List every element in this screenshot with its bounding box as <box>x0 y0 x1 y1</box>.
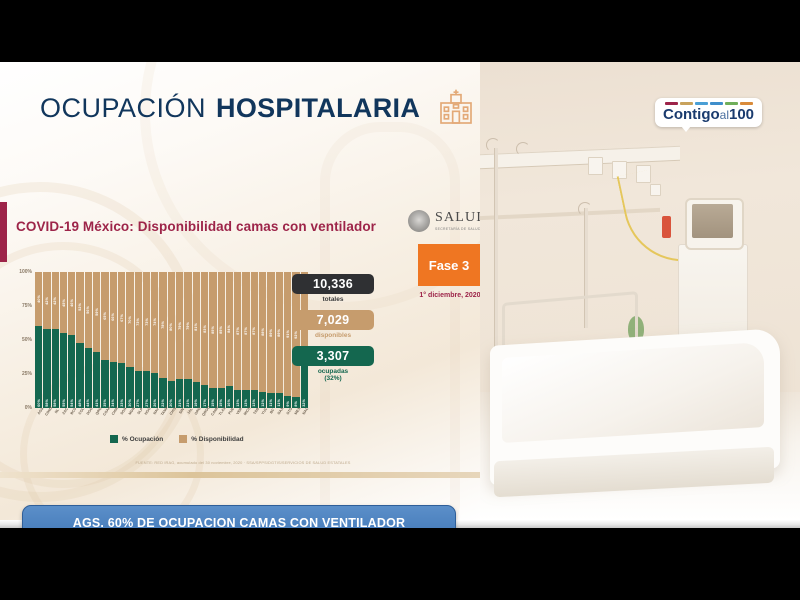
chart-bar: 74%26% <box>151 272 158 408</box>
chart-source-note: FUENTE: RED IRAG, acumulado del 30 novie… <box>78 460 408 465</box>
bar-value-label-availability: 85% <box>211 326 215 334</box>
chart-bar: 65%35% <box>101 272 108 408</box>
legend-label: % Ocupación <box>122 436 163 443</box>
bar-value-label-availability: 89% <box>269 329 273 337</box>
stat-occupied-value: 3,307 <box>292 346 374 366</box>
bar-segment-occupancy: 55% <box>60 333 67 408</box>
bar-segment-occupancy: 13% <box>251 390 258 408</box>
bar-segment-occupancy: 16% <box>226 386 233 408</box>
bar-value-label-availability: 87% <box>244 327 248 335</box>
bar-segment-availability: 66% <box>110 272 117 362</box>
bar-segment-occupancy: 15% <box>218 388 225 408</box>
contigo-color-bar <box>665 102 678 105</box>
bar-value-label-occupancy: 30% <box>128 399 132 407</box>
bar-segment-occupancy: 21% <box>184 379 191 408</box>
chart-bar: 79%21% <box>176 272 183 408</box>
bar-value-label-occupancy: 13% <box>252 399 256 407</box>
bar-value-label-availability: 80% <box>169 323 173 331</box>
bar-value-label-availability: 81% <box>194 323 198 331</box>
x-axis-tick: AGS <box>35 409 42 431</box>
bar-value-label-occupancy: 60% <box>37 399 41 407</box>
bar-segment-availability: 52% <box>76 272 83 343</box>
bar-value-label-availability: 84% <box>227 325 231 333</box>
bar-value-label-occupancy: 58% <box>45 399 49 407</box>
bar-value-label-availability: 79% <box>178 322 182 330</box>
bar-value-label-occupancy: 41% <box>95 399 99 407</box>
stat-total-value: 10,336 <box>292 274 374 294</box>
bar-segment-availability: 84% <box>226 272 233 386</box>
chart-bar: 80%20% <box>168 272 175 408</box>
iv-pole <box>494 148 498 348</box>
bar-value-label-availability: 85% <box>219 326 223 334</box>
bar-segment-occupancy: 54% <box>68 335 75 408</box>
bar-value-label-occupancy: 35% <box>103 399 107 407</box>
bar-segment-availability: 73% <box>135 272 142 371</box>
chart-bar: 73%27% <box>135 272 142 408</box>
bar-segment-availability: 81% <box>193 272 200 382</box>
bar-segment-occupancy: 13% <box>242 390 249 408</box>
bar-segment-occupancy: 30% <box>126 367 133 408</box>
bar-value-label-availability: 78% <box>161 321 165 329</box>
bar-value-label-availability: 40% <box>37 295 41 303</box>
chart-plot-area: 40%60%42%58%42%58%45%55%46%54%52%48%56%4… <box>35 272 308 408</box>
bar-segment-availability: 85% <box>218 272 225 388</box>
chart-bar: 85%15% <box>209 272 216 408</box>
bar-segment-availability: 88% <box>259 272 266 392</box>
legend-swatch <box>110 435 118 443</box>
legend-label: % Disponibilidad <box>191 436 243 443</box>
occupancy-chart: 0%25%50%75%100% 40%60%42%58%42%58%45%55%… <box>8 272 308 422</box>
slide-title-bold: HOSPITALARIA <box>216 93 420 124</box>
contigo-color-bar <box>680 102 693 105</box>
bar-segment-availability: 87% <box>234 272 241 390</box>
bar-segment-availability: 46% <box>68 272 75 335</box>
letterbox-bottom <box>0 528 800 600</box>
contigo-text-part1: Contigo <box>663 106 720 123</box>
chart-bar: 40%60% <box>35 272 42 408</box>
chart-bar: 81%19% <box>193 272 200 408</box>
bar-segment-occupancy: 34% <box>110 362 117 408</box>
bar-value-label-availability: 73% <box>145 318 149 326</box>
bar-value-label-availability: 73% <box>136 318 140 326</box>
bar-value-label-availability: 45% <box>62 299 66 307</box>
bar-segment-occupancy: 35% <box>101 360 108 408</box>
emergency-valve <box>662 216 671 238</box>
bar-segment-availability: 91% <box>284 272 291 396</box>
bar-value-label-availability: 88% <box>261 328 265 336</box>
chart-bar: 87%13% <box>242 272 249 408</box>
bar-segment-availability: 78% <box>159 272 166 378</box>
slide-stage: OCUPACIÓN HOSPITALARIA COVI <box>0 62 800 528</box>
slide-title-light: OCUPACIÓN <box>40 93 206 124</box>
slide-footer-rule <box>0 472 480 478</box>
chart-x-axis: AGSCDMXNLZACBCSCOLDGOQROCOAHCHIHSONMORSL… <box>35 409 308 431</box>
chart-bar: 70%30% <box>126 272 133 408</box>
legend-swatch <box>179 435 187 443</box>
bar-segment-availability: 67% <box>118 272 125 363</box>
bar-value-label-availability: 89% <box>277 329 281 337</box>
bar-segment-availability: 74% <box>151 272 158 373</box>
stat-available-value: 7,029 <box>292 310 374 330</box>
phase-date: 1° diciembre, 2020 <box>414 292 480 299</box>
bar-segment-occupancy: 12% <box>259 392 266 408</box>
letterbox-top <box>0 0 800 62</box>
chart-bar: 45%55% <box>60 272 67 408</box>
contigo-text-part2: al <box>720 108 729 122</box>
chart-bar: 88%12% <box>259 272 266 408</box>
chart-bar: 83%17% <box>201 272 208 408</box>
bar-value-label-occupancy: 16% <box>227 399 231 407</box>
bar-value-label-availability: 70% <box>128 316 132 324</box>
bar-segment-occupancy: 48% <box>76 343 83 408</box>
bar-segment-availability: 40% <box>35 272 42 326</box>
bar-segment-availability: 87% <box>242 272 249 390</box>
chart-bar: 85%15% <box>218 272 225 408</box>
chart-title: COVID-19 México: Disponibilidad camas co… <box>16 219 376 234</box>
bar-segment-availability: 42% <box>43 272 50 329</box>
bar-segment-availability: 79% <box>176 272 183 379</box>
chart-y-axis: 0%25%50%75%100% <box>8 272 34 408</box>
bar-segment-availability: 65% <box>101 272 108 360</box>
bar-value-label-availability: 91% <box>286 330 290 338</box>
salud-logo: SALUD SECRETARÍA DE SALUD <box>408 210 480 232</box>
y-axis-tick: 50% <box>22 337 32 343</box>
chart-bar: 89%11% <box>267 272 274 408</box>
chart-bar: 91%9% <box>284 272 291 408</box>
banner-line-1: AGS. 60% DE OCUPACION CAMAS CON VENTILAD… <box>73 516 406 528</box>
stat-occupied-caption-line1: ocupadas <box>292 368 374 375</box>
bar-value-label-availability: 66% <box>111 313 115 321</box>
chart-bar: 42%58% <box>43 272 50 408</box>
bar-segment-occupancy: 21% <box>176 379 183 408</box>
bar-segment-availability: 89% <box>276 272 283 393</box>
bar-segment-occupancy: 27% <box>135 371 142 408</box>
chart-bar: 78%22% <box>159 272 166 408</box>
bar-value-label-availability: 87% <box>236 327 240 335</box>
bar-value-label-availability: 65% <box>103 312 107 320</box>
iv-hook-icon <box>516 142 530 156</box>
bar-value-label-availability: 56% <box>86 306 90 314</box>
bar-value-label-occupancy: 27% <box>136 399 140 407</box>
bar-segment-occupancy: 22% <box>159 378 166 408</box>
chart-bar: 56%44% <box>85 272 92 408</box>
chart-bar: 52%48% <box>76 272 83 408</box>
bar-segment-availability: 87% <box>251 272 258 390</box>
y-axis-tick: 0% <box>25 405 32 411</box>
y-axis-tick: 75% <box>22 303 32 309</box>
bar-segment-availability: 79% <box>184 272 191 379</box>
contigo-logo-tail <box>681 126 691 132</box>
bar-segment-occupancy: 13% <box>234 390 241 408</box>
bar-value-label-availability: 42% <box>45 297 49 305</box>
chart-bar: 59%41% <box>93 272 100 408</box>
bar-segment-availability: 70% <box>126 272 133 367</box>
bar-value-label-availability: 74% <box>153 318 157 326</box>
bar-value-label-availability: 46% <box>70 299 74 307</box>
bar-segment-occupancy: 33% <box>118 363 125 408</box>
bar-segment-availability: 80% <box>168 272 175 381</box>
chart-bar: 89%11% <box>276 272 283 408</box>
legend-item: % Disponibilidad <box>179 435 243 443</box>
bar-value-label-availability: 59% <box>95 308 99 316</box>
bar-segment-availability: 56% <box>85 272 92 348</box>
bar-segment-occupancy: 58% <box>52 329 59 408</box>
bar-segment-occupancy: 41% <box>93 352 100 408</box>
bar-segment-availability: 59% <box>93 272 100 352</box>
bar-value-label-occupancy: 11% <box>269 399 273 407</box>
bar-segment-occupancy: 19% <box>193 382 200 408</box>
bar-segment-occupancy: 26% <box>151 373 158 408</box>
contigo-color-bar <box>710 102 723 105</box>
patient-monitor-screen <box>692 204 733 238</box>
hospital-room-photo: Contigoal100 <box>480 62 800 520</box>
y-axis-tick: 100% <box>19 269 32 275</box>
bar-segment-occupancy: 11% <box>267 393 274 408</box>
chart-bar: 66%34% <box>110 272 117 408</box>
legend-item: % Ocupación <box>110 435 163 443</box>
contigo-color-bar <box>740 102 753 105</box>
chart-legend: % Ocupación% Disponibilidad <box>110 435 244 443</box>
chart-bar: 73%27% <box>143 272 150 408</box>
video-frame: OCUPACIÓN HOSPITALARIA COVI <box>0 0 800 600</box>
salud-name: SALUD <box>435 211 480 225</box>
bar-segment-occupancy: 44% <box>85 348 92 408</box>
bar-segment-occupancy: 11% <box>276 393 283 408</box>
bar-value-label-availability: 67% <box>120 314 124 322</box>
stat-total-caption: totales <box>292 296 374 303</box>
stat-occupied-caption: ocupadas (32%) <box>292 368 374 382</box>
bar-segment-availability: 73% <box>143 272 150 371</box>
lower-third-banner: AGS. 60% DE OCUPACION CAMAS CON VENTILAD… <box>22 505 456 528</box>
contigo-al-100-logo: Contigoal100 <box>655 98 762 127</box>
bar-value-label-availability: 83% <box>203 325 207 333</box>
hospital-building-icon <box>436 88 476 128</box>
bar-value-label-availability: 79% <box>186 322 190 330</box>
contigo-color-bar <box>695 102 708 105</box>
bar-segment-availability: 42% <box>52 272 59 329</box>
wall-outlet <box>588 157 603 175</box>
contigo-color-bars <box>663 102 754 105</box>
chart-bar: 46%54% <box>68 272 75 408</box>
stat-occupied-caption-line2: (32%) <box>292 375 374 382</box>
contigo-color-bar <box>725 102 738 105</box>
bar-segment-availability: 89% <box>267 272 274 393</box>
slide-header: OCUPACIÓN HOSPITALARIA <box>40 88 476 128</box>
phase-label: Fase 3 <box>429 258 469 273</box>
bar-value-label-availability: 87% <box>252 327 256 335</box>
chart-bar: 67%33% <box>118 272 125 408</box>
bar-value-label-occupancy: 15% <box>211 399 215 407</box>
presentation-slide: OCUPACIÓN HOSPITALARIA COVI <box>0 62 480 520</box>
contigo-text-part3: 100 <box>729 106 754 123</box>
bar-value-label-availability: 52% <box>78 303 82 311</box>
bar-value-label-occupancy: 21% <box>186 399 190 407</box>
bar-value-label-availability: 42% <box>53 297 57 305</box>
chart-bar: 42%58% <box>52 272 59 408</box>
bar-segment-occupancy: 60% <box>35 326 42 408</box>
bar-value-label-occupancy: 21% <box>178 399 182 407</box>
stats-panel: 10,336 totales 7,029 disponibles 3,307 o… <box>292 274 374 389</box>
salud-subtitle: SECRETARÍA DE SALUD <box>435 227 480 231</box>
bar-segment-availability: 45% <box>60 272 67 333</box>
bed-sheet <box>502 342 764 443</box>
bar-segment-occupancy: 27% <box>143 371 150 408</box>
chart-bar: 87%13% <box>234 272 241 408</box>
y-axis-tick: 25% <box>22 371 32 377</box>
phase-badge: Fase 3 <box>418 244 480 286</box>
chart-bar: 79%21% <box>184 272 191 408</box>
government-seal-icon <box>408 210 430 232</box>
bar-segment-availability: 83% <box>201 272 208 385</box>
bar-segment-availability: 85% <box>209 272 216 388</box>
red-accent-bar <box>0 202 7 262</box>
chart-bar: 84%16% <box>226 272 233 408</box>
bar-value-label-occupancy: 33% <box>120 399 124 407</box>
stat-available-caption: disponibles <box>292 332 374 339</box>
chart-bar: 87%13% <box>251 272 258 408</box>
bar-segment-occupancy: 20% <box>168 381 175 408</box>
bar-segment-occupancy: 58% <box>43 329 50 408</box>
bar-value-label-occupancy: 58% <box>53 399 57 407</box>
